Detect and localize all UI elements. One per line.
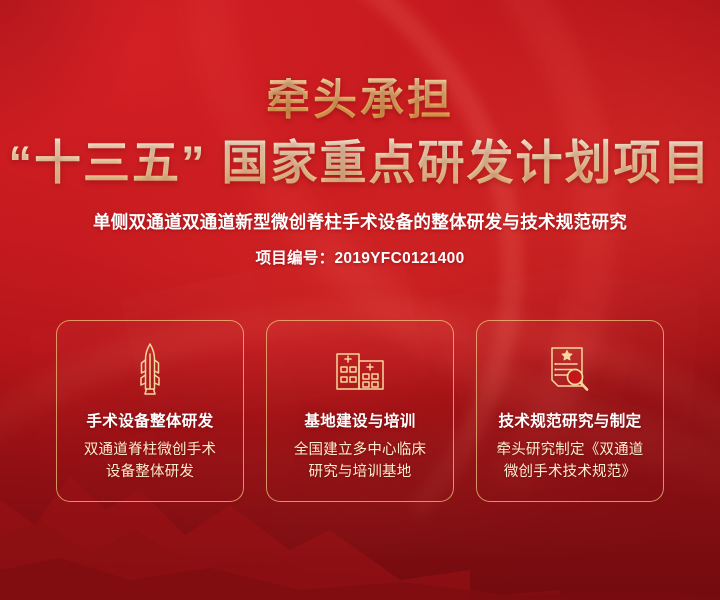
project-number: 项目编号：2019YFC0121400	[0, 246, 720, 268]
hospital-building-icon	[334, 343, 386, 395]
title-line-2: “十三五” 国家重点研发计划项目	[0, 138, 720, 187]
title-line-1: 牵头承担	[0, 78, 720, 122]
poster-header: 牵头承担 “十三五” 国家重点研发计划项目 单侧双通道双通道新型微创脊柱手术设备…	[0, 0, 720, 268]
card-title: 基地建设与培训	[304, 409, 415, 431]
card-description: 牵头研究制定《双通道 微创手术技术规范》	[497, 440, 644, 484]
card-title: 手术设备整体研发	[86, 409, 213, 431]
feature-card-row: 手术设备整体研发 双通道脊柱微创手术 设备整体研发	[56, 320, 664, 502]
feature-card-equipment-rnd[interactable]: 手术设备整体研发 双通道脊柱微创手术 设备整体研发	[56, 320, 244, 502]
card-title: 技术规范研究与制定	[498, 409, 641, 431]
feature-card-tech-standard[interactable]: 技术规范研究与制定 牵头研究制定《双通道 微创手术技术规范》	[476, 320, 664, 502]
card-description: 全国建立多中心临床 研究与培训基地	[294, 440, 426, 484]
feature-card-base-training[interactable]: 基地建设与培训 全国建立多中心临床 研究与培训基地	[266, 320, 454, 502]
rocket-icon	[133, 343, 167, 395]
promotional-poster: 牵头承担 “十三五” 国家重点研发计划项目 单侧双通道双通道新型微创脊柱手术设备…	[0, 0, 720, 600]
project-subtitle: 单侧双通道双通道新型微创脊柱手术设备的整体研发与技术规范研究	[0, 209, 720, 234]
card-description: 双通道脊柱微创手术 设备整体研发	[84, 440, 216, 484]
document-search-icon	[547, 343, 593, 395]
